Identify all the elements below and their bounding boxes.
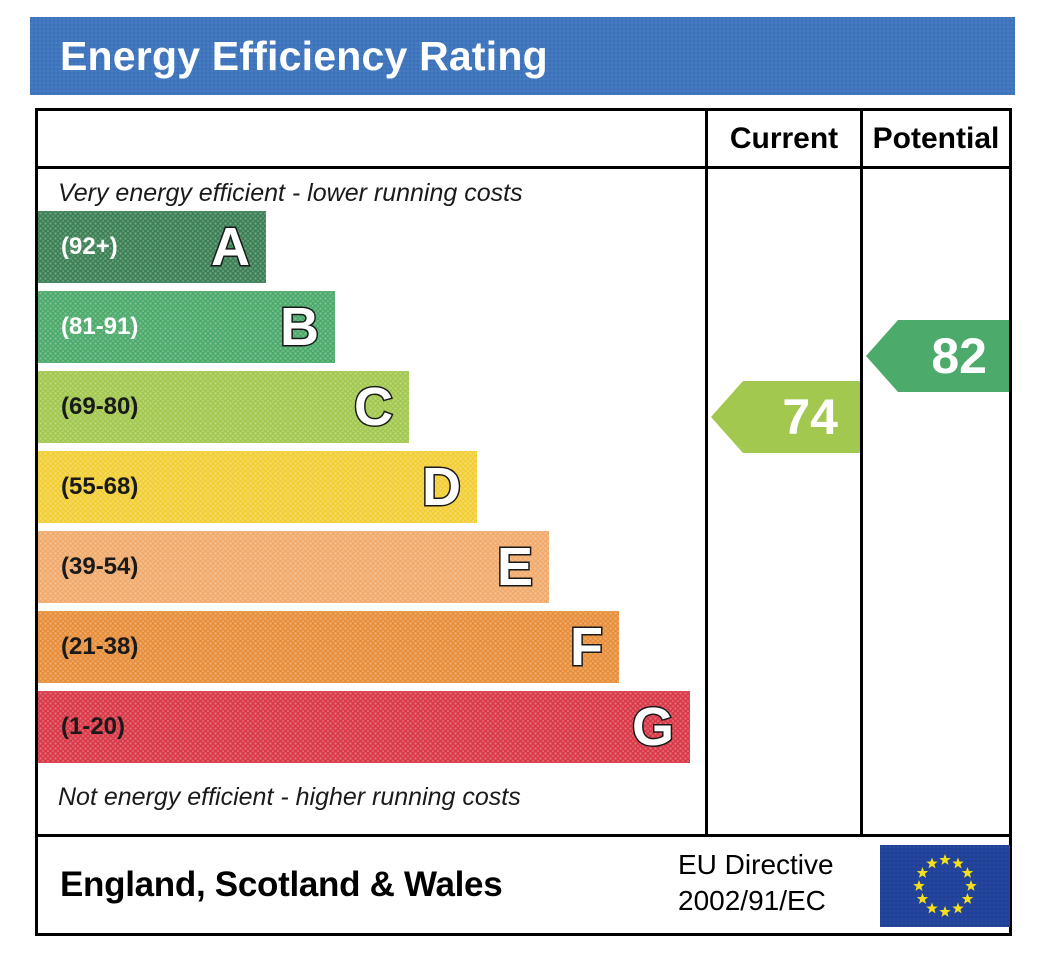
energy-efficiency-rating-chart: Energy Efficiency Rating Current Potenti…	[0, 0, 1044, 954]
chart-frame: Current Potential Very energy efficient …	[35, 108, 1012, 936]
rating-bars-area: Very energy efficient - lower running co…	[38, 169, 705, 834]
rating-band-c: (69-80) C	[38, 371, 409, 443]
page-title: Energy Efficiency Rating	[60, 33, 548, 80]
footer-region-label: England, Scotland & Wales	[60, 865, 502, 905]
column-header-potential-label: Potential	[873, 122, 1000, 156]
column-header-current-label: Current	[730, 122, 838, 156]
band-range-label: (1-20)	[61, 713, 125, 741]
band-range-label: (55-68)	[61, 473, 138, 501]
footer-row: England, Scotland & Wales EU Directive 2…	[38, 837, 1009, 933]
band-letter: B	[280, 300, 319, 354]
eu-flag-icon	[880, 845, 1010, 927]
band-letter: D	[422, 460, 461, 514]
note-very-efficient: Very energy efficient - lower running co…	[58, 179, 523, 208]
rating-band-b: (81-91) B	[38, 291, 335, 363]
footer-directive-line1: EU Directive	[678, 847, 834, 883]
rating-band-d: (55-68) D	[38, 451, 477, 523]
potential-rating-arrow: 82	[866, 320, 1009, 392]
rating-band-g: (1-20) G	[38, 691, 690, 763]
band-letter: C	[354, 380, 393, 434]
rating-band-a: (92+) A	[38, 211, 266, 283]
band-range-label: (69-80)	[61, 393, 138, 421]
band-letter: E	[497, 540, 533, 594]
band-letter: G	[632, 700, 674, 754]
chart-title-banner: Energy Efficiency Rating	[30, 17, 1015, 95]
rating-band-e: (39-54) E	[38, 531, 549, 603]
band-letter: F	[570, 620, 603, 674]
column-header-current: Current	[705, 111, 860, 166]
band-texture	[38, 691, 690, 763]
note-not-efficient: Not energy efficient - higher running co…	[58, 783, 521, 812]
footer-directive: EU Directive 2002/91/EC	[678, 847, 834, 919]
band-range-label: (81-91)	[61, 313, 138, 341]
band-range-label: (39-54)	[61, 553, 138, 581]
column-divider-current	[705, 169, 708, 834]
current-rating-value: 74	[782, 392, 838, 442]
rating-band-f: (21-38) F	[38, 611, 619, 683]
potential-rating-value: 82	[931, 331, 987, 381]
band-range-label: (92+)	[61, 233, 118, 261]
column-header-row: Current Potential	[38, 111, 1009, 169]
footer-directive-line2: 2002/91/EC	[678, 883, 834, 919]
column-header-potential: Potential	[860, 111, 1009, 166]
band-letter: A	[211, 220, 250, 274]
column-divider-potential	[860, 169, 863, 834]
band-range-label: (21-38)	[61, 633, 138, 661]
current-rating-arrow: 74	[711, 381, 860, 453]
